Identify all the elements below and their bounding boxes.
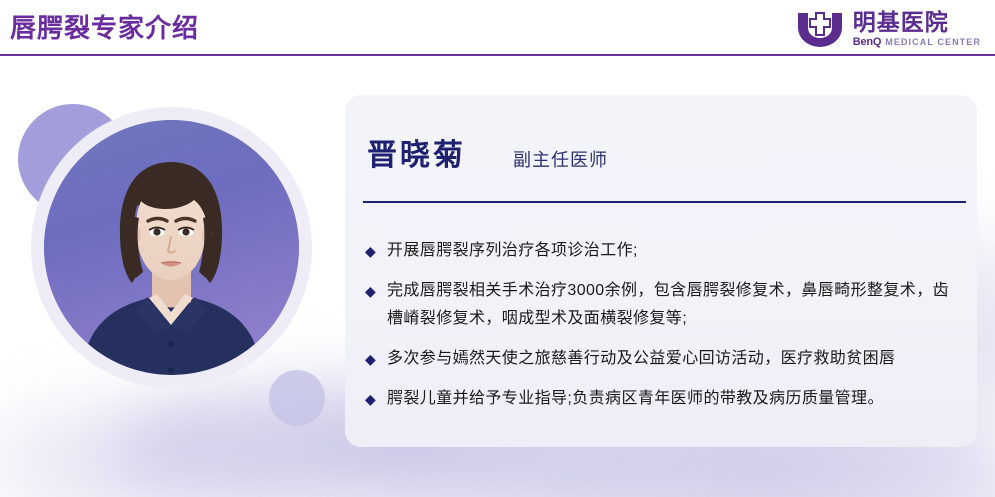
logo-subtitle-en: MEDICAL CENTER: [885, 38, 981, 47]
doctor-photo: [44, 120, 299, 375]
logo-brand-en: BenQ: [853, 37, 882, 48]
qualification-list: ◆ 开展唇腭裂序列治疗各项诊治工作; ◆ 完成唇腭裂相关手术治疗3000余例，包…: [365, 237, 965, 425]
list-item-text: 完成唇腭裂相关手术治疗3000余例，包含唇腭裂修复术，鼻唇畸形整复术，齿槽嵴裂修…: [387, 277, 965, 333]
medical-cross-smile-icon: [794, 9, 846, 49]
logo-text-block: 明基医院 BenQ MEDICAL CENTER: [853, 10, 981, 48]
decorative-circle-bottom: [269, 370, 325, 426]
doctor-rank: 副主任医师: [513, 147, 608, 173]
list-item-text: 多次参与嫣然天使之旅慈善行动及公益爱心回访活动，医疗救助贫困唇: [387, 345, 965, 373]
diamond-bullet-icon: ◆: [365, 345, 387, 373]
doctor-photo-block: [18, 88, 338, 458]
list-item: ◆ 多次参与嫣然天使之旅慈善行动及公益爱心回访活动，医疗救助贫困唇: [365, 345, 965, 373]
list-item-text: 开展唇腭裂序列治疗各项诊治工作;: [387, 237, 965, 265]
page-title: 唇腭裂专家介绍: [10, 11, 199, 45]
doctor-name: 晋晓菊: [367, 139, 466, 173]
list-item: ◆ 腭裂儿童并给予专业指导;负责病区青年医师的带教及病历质量管理。: [365, 385, 965, 413]
slide-root: 唇腭裂专家介绍 明基医院 BenQ MEDICAL CENTER: [0, 0, 995, 497]
logo-en-row: BenQ MEDICAL CENTER: [853, 37, 981, 48]
doctor-info-card: 晋晓菊 副主任医师 ◆ 开展唇腭裂序列治疗各项诊治工作; ◆ 完成唇腭裂相关手术…: [345, 95, 977, 447]
list-item-text: 腭裂儿童并给予专业指导;负责病区青年医师的带教及病历质量管理。: [387, 385, 965, 413]
diamond-bullet-icon: ◆: [365, 277, 387, 305]
diamond-bullet-icon: ◆: [365, 237, 387, 265]
logo-name-cn: 明基医院: [853, 10, 981, 35]
list-item: ◆ 完成唇腭裂相关手术治疗3000余例，包含唇腭裂修复术，鼻唇畸形整复术，齿槽嵴…: [365, 277, 965, 333]
list-item: ◆ 开展唇腭裂序列治疗各项诊治工作;: [365, 237, 965, 265]
slide-body: 晋晓菊 副主任医师 ◆ 开展唇腭裂序列治疗各项诊治工作; ◆ 完成唇腭裂相关手术…: [0, 56, 995, 497]
diamond-bullet-icon: ◆: [365, 385, 387, 413]
page-header: 唇腭裂专家介绍 明基医院 BenQ MEDICAL CENTER: [0, 0, 995, 56]
name-divider: [363, 201, 966, 203]
portrait-illustration: [44, 120, 299, 375]
hospital-logo: 明基医院 BenQ MEDICAL CENTER: [794, 8, 981, 50]
